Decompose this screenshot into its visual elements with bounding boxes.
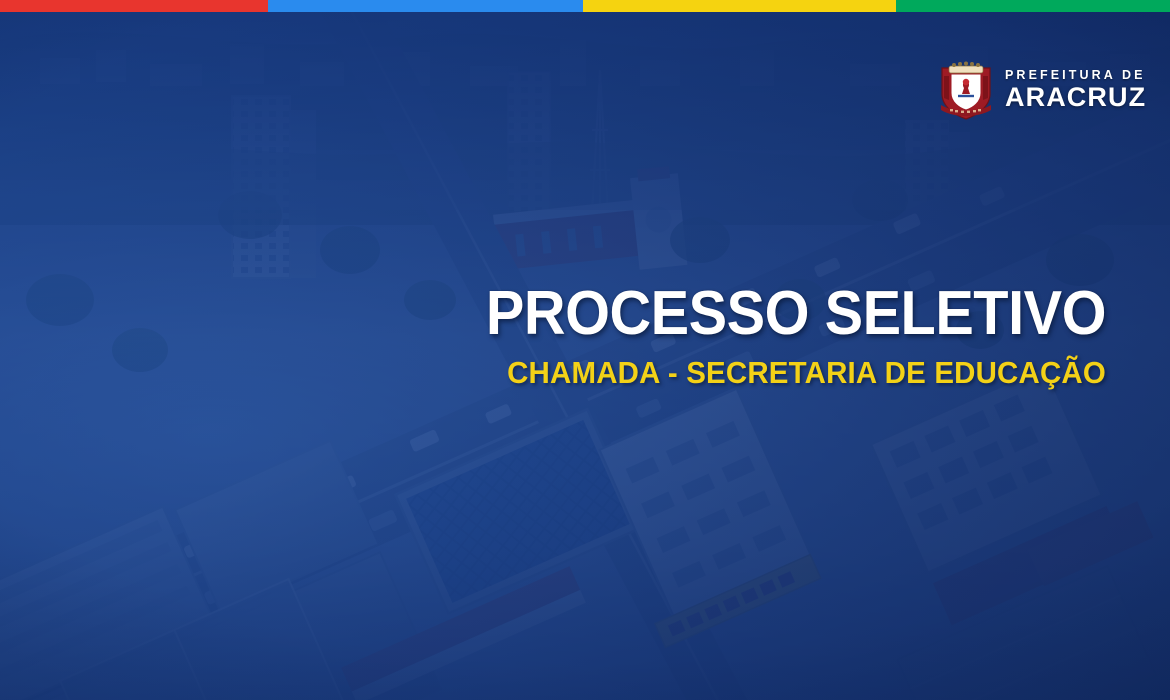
accent-bar-yellow bbox=[583, 0, 896, 12]
accent-bar-blue bbox=[268, 0, 583, 12]
banner: PREFEITURA DE ARACRUZ PROCESSO SELETIVO … bbox=[0, 0, 1170, 700]
prefeitura-logo: PREFEITURA DE ARACRUZ bbox=[938, 60, 1146, 120]
logo-line-aracruz: ARACRUZ bbox=[1005, 84, 1146, 111]
banner-subtitle: CHAMADA - SECRETARIA DE EDUCAÇÃO bbox=[55, 357, 1106, 390]
logo-line-prefeitura: PREFEITURA DE bbox=[1005, 69, 1146, 82]
banner-title: PROCESSO SELETIVO bbox=[77, 282, 1106, 345]
aracruz-coat-of-arms-icon bbox=[938, 60, 994, 120]
logo-wordmark: PREFEITURA DE ARACRUZ bbox=[1005, 69, 1146, 112]
accent-bar-red bbox=[0, 0, 268, 12]
headline-block: PROCESSO SELETIVO CHAMADA - SECRETARIA D… bbox=[0, 282, 1106, 390]
accent-bar-green bbox=[896, 0, 1170, 12]
accent-color-bar bbox=[0, 0, 1170, 12]
